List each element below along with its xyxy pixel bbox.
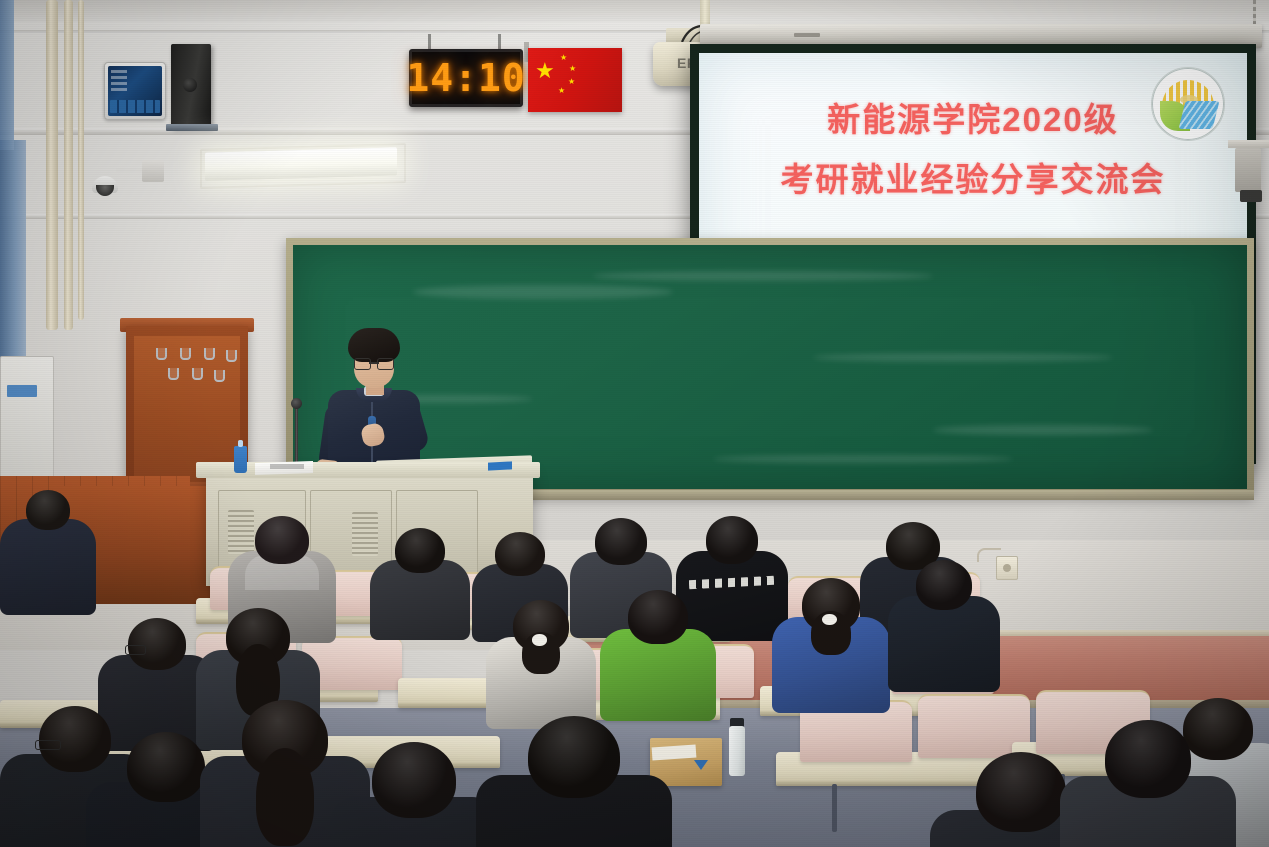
slide-title-line-2: 考研就业经验分享交流会 [699,153,1247,201]
student-hair-long [256,748,314,846]
desk-leg-1 [832,784,837,832]
flag-star-1: ★ [560,54,567,62]
student-head [706,516,758,564]
coat-hook-1[interactable] [156,348,167,360]
gooseneck-microphone[interactable] [295,404,298,466]
coat-hook-2[interactable] [180,348,191,360]
student-head [916,560,972,610]
slide-title-line-1: 新能源学院2020级 [699,93,1247,141]
wall-speaker [171,44,211,128]
lecture-hall-scene: 14:10 ★ ★ ★ ★ ★ EPSON [0,0,1269,847]
glasses-icon [125,645,147,655]
clock-time-display: 14:10 [406,56,525,100]
student-head [26,490,70,530]
student-head [976,752,1066,832]
hair-scrunchie [822,614,837,626]
student-back-suit [0,490,96,626]
student-fg-black-coat [476,716,672,847]
right-wall-box [1240,190,1262,202]
student-head [127,732,205,802]
student-dark-jacket-a [370,528,470,653]
camera-mount-plate [142,160,164,182]
blue-water-bottle [234,446,247,473]
student-torso [888,596,1000,692]
student-head [128,618,186,670]
blackboard-surface [293,245,1247,489]
chinese-national-flag: ★ ★ ★ ★ ★ [528,48,622,112]
flag-star-4: ★ [558,87,565,95]
wall-pipe-3 [78,0,84,320]
roller-label [794,33,820,37]
student-fg-c [330,742,498,847]
student-navy-right [888,560,1000,706]
flag-star-2: ★ [569,65,576,73]
wall-pipe-2 [64,0,73,330]
microphone-head-icon [291,398,302,409]
carton-logo-icon [694,760,708,770]
glasses-icon [35,740,61,750]
student-head [255,516,309,564]
blue-wall-panel-upper [0,0,14,150]
flag-star-large: ★ [535,60,555,82]
student-head [395,528,445,573]
right-wall-shelf [1228,140,1269,148]
student-green-shirt [600,590,716,736]
coat-hook-6[interactable] [192,368,203,380]
coat-hook-3[interactable] [204,348,215,360]
student-blue-pattern [772,578,890,728]
speaker-shelf [166,124,218,131]
coat-hook-7[interactable] [214,370,225,382]
student-head [528,716,620,798]
wall-control-panel[interactable] [104,62,166,120]
wall-pipe-1 [46,0,58,330]
blue-card-on-desk [488,461,512,470]
ceiling-band [0,0,1269,22]
left-cabinet[interactable] [0,356,54,478]
student-torso [0,519,96,615]
flag-star-3: ★ [568,78,575,86]
right-wall-device [1235,148,1261,192]
glasses-icon [354,358,394,368]
cabinet-label [7,385,37,397]
student-fg-e [1060,720,1236,847]
student-head [372,742,456,818]
paper-dark-strip [270,464,304,469]
blue-wall-panel [0,140,26,390]
speaker-at-podium [322,328,426,480]
coat-hook-4[interactable] [226,350,237,362]
fluorescent-light [205,147,397,180]
hair-scrunchie [532,634,547,645]
student-head [595,518,647,565]
coat-hook-5[interactable] [168,368,179,380]
presenter-hair [348,328,400,362]
led-wall-clock: 14:10 [409,49,523,107]
student-head [628,590,688,644]
student-head [1105,720,1191,798]
blackboard [286,238,1254,496]
control-panel-screen[interactable] [108,66,162,116]
water-bottle-on-desk [729,726,745,776]
student-head [495,532,545,576]
